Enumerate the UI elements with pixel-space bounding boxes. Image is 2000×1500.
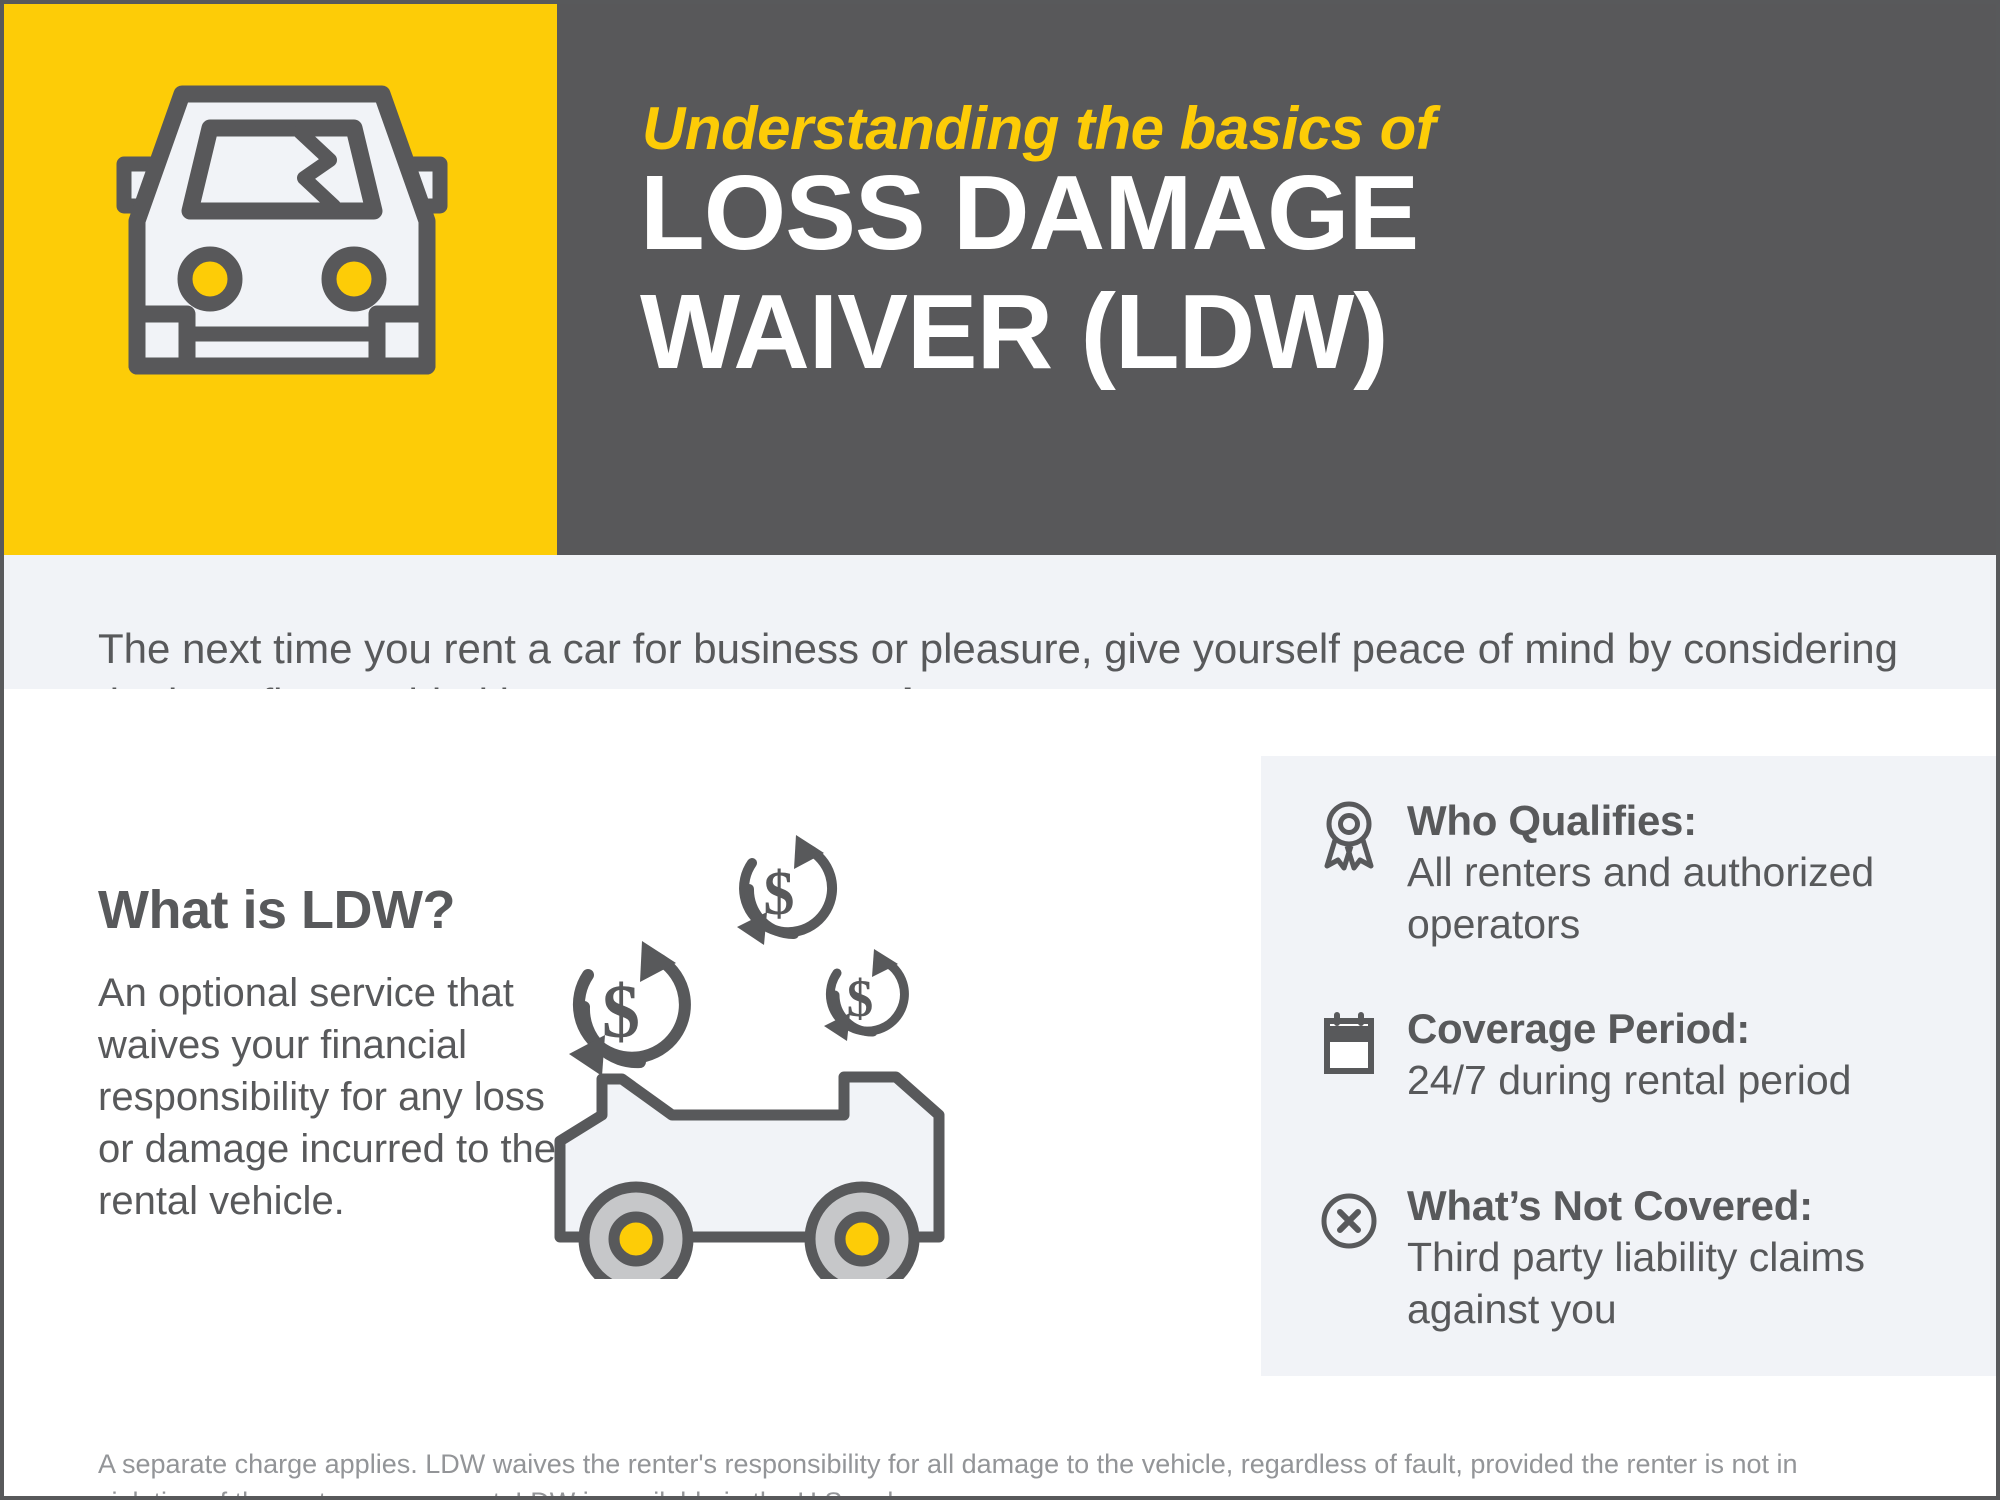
damaged-car-icon [82, 66, 482, 391]
intro-band: The next time you rent a car for busines… [4, 555, 2000, 689]
page-title-line-1: LOSS DAMAGE [640, 154, 1418, 273]
pickup-truck-icon [560, 1077, 939, 1279]
what-is-ldw-heading: What is LDW? [98, 879, 568, 941]
dollar-refresh-icon: $ [569, 941, 685, 1076]
dollar-refresh-icon: $ [737, 835, 832, 945]
svg-text:$: $ [764, 860, 795, 928]
svg-text:$: $ [602, 970, 640, 1054]
info-panel: Who Qualifies: All renters and authorize… [1261, 756, 1997, 1376]
info-item-text: What’s Not Covered: Third party liabilit… [1407, 1181, 1973, 1335]
header: Understanding the basics of LOSS DAMAGE … [4, 4, 2000, 555]
info-item-value: All renters and authorized operators [1407, 846, 1973, 950]
footer-disclaimer: A separate charge applies. LDW waives th… [98, 1445, 1888, 1500]
truck-wheel [810, 1187, 914, 1279]
info-item-label: Coverage Period: [1407, 1004, 1973, 1054]
main-content: What is LDW? An optional service that wa… [4, 689, 2000, 1418]
info-item-value: 24/7 during rental period [1407, 1054, 1973, 1106]
circle-x-icon [1313, 1181, 1385, 1257]
svg-text:$: $ [847, 970, 874, 1028]
footer-band: A separate charge applies. LDW waives th… [4, 1418, 2000, 1500]
dollar-refresh-icon: $ [824, 949, 904, 1041]
info-item-text: Coverage Period: 24/7 during rental peri… [1407, 1004, 1973, 1106]
header-title-block: Understanding the basics of LOSS DAMAGE … [557, 4, 2000, 555]
info-item-coverage-period: Coverage Period: 24/7 during rental peri… [1313, 1004, 1973, 1106]
info-item-not-covered: What’s Not Covered: Third party liabilit… [1313, 1181, 1973, 1335]
award-ribbon-icon [1313, 796, 1385, 872]
what-is-ldw-section: What is LDW? An optional service that wa… [98, 879, 568, 1227]
page-title-line-2: WAIVER (LDW) [640, 273, 1418, 392]
info-item-text: Who Qualifies: All renters and authorize… [1407, 796, 1973, 950]
header-logo-block [4, 4, 557, 555]
info-item-label: Who Qualifies: [1407, 796, 1973, 846]
what-is-ldw-body: An optional service that waives your fin… [98, 967, 568, 1227]
header-eyebrow: Understanding the basics of [642, 94, 1435, 163]
infographic-root: Understanding the basics of LOSS DAMAGE … [0, 0, 2000, 1500]
info-item-who-qualifies: Who Qualifies: All renters and authorize… [1313, 796, 1973, 950]
page-title: LOSS DAMAGE WAIVER (LDW) [640, 154, 1418, 392]
info-item-value: Third party liability claims against you [1407, 1231, 1973, 1335]
calendar-icon [1313, 1004, 1385, 1080]
truck-wheel [584, 1187, 688, 1279]
center-illustration: $ $ $ [544, 829, 1014, 1279]
info-item-label: What’s Not Covered: [1407, 1181, 1973, 1231]
